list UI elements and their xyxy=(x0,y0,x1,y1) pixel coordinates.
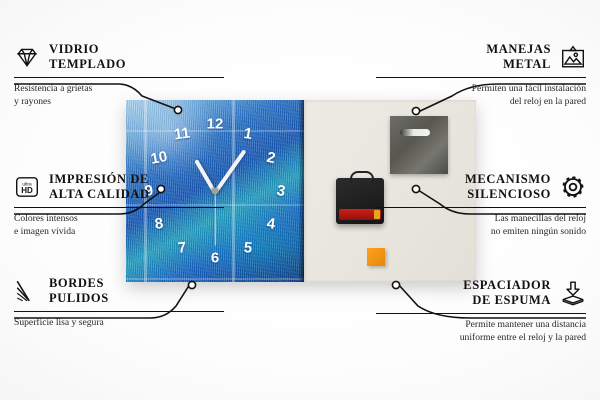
feature-rule xyxy=(376,313,586,315)
feature-subtitle-line1: Superficie lisa y segura xyxy=(14,317,224,330)
feature-title-line2: METAL xyxy=(486,57,551,72)
feature-title-line2: DE ESPUMA xyxy=(463,293,551,308)
feature-title-line2: TEMPLADO xyxy=(49,57,126,72)
foam-spacer xyxy=(367,248,385,266)
feature-subtitle-line1: Permite mantener una distancia xyxy=(376,319,586,332)
feature-subtitle-line2: uniforme entre el reloj y la pared xyxy=(376,332,586,345)
clock-numeral-1: 1 xyxy=(243,126,253,142)
feature-subtitle-line1: Las manecillas del reloj xyxy=(376,213,586,226)
clock-numeral-4: 4 xyxy=(266,216,276,232)
feature-title-line2: SILENCIOSO xyxy=(465,187,551,202)
clock-numeral-6: 6 xyxy=(211,251,219,266)
picture-hanger-icon xyxy=(560,44,586,70)
clock-numeral-5: 5 xyxy=(243,240,253,256)
ultra-hd-badge-icon: ultra HD xyxy=(14,174,40,200)
battery xyxy=(339,209,381,220)
feature-impresion-alta-calidad[interactable]: ultra HD IMPRESIÓN DE ALTA CALIDAD Color… xyxy=(14,172,224,239)
feature-subtitle-line2: e imagen vívida xyxy=(14,226,224,239)
infographic-canvas: 12 1 2 3 4 5 6 7 8 9 10 11 xyxy=(0,0,600,400)
feature-title-line1: IMPRESIÓN DE xyxy=(49,172,150,187)
feature-title-line2: ALTA CALIDAD xyxy=(49,187,150,202)
feature-rule xyxy=(14,207,224,209)
clock-numeral-3: 3 xyxy=(275,183,286,199)
feature-rule xyxy=(376,77,586,79)
svg-text:HD: HD xyxy=(21,186,33,195)
feature-subtitle-line1: Resistencia a grietas xyxy=(14,83,224,96)
diagonal-lines-icon xyxy=(14,278,40,304)
feature-espaciador-espuma[interactable]: ESPACIADOR DE ESPUMA Permite mantener un… xyxy=(376,278,586,345)
feature-title-line1: VIDRIO xyxy=(49,42,126,57)
clock-numeral-10: 10 xyxy=(149,149,168,167)
clock-numeral-11: 11 xyxy=(173,125,191,142)
clock-numeral-7: 7 xyxy=(177,240,187,256)
feature-subtitle-line2: del reloj en la pared xyxy=(376,96,586,109)
feature-subtitle-line1: Permiten una fácil instalación xyxy=(376,83,586,96)
feature-title-line1: ESPACIADOR xyxy=(463,278,551,293)
gear-icon xyxy=(560,174,586,200)
feature-mecanismo-silencioso[interactable]: MECANISMO SILENCIOSO Las manecillas del … xyxy=(376,172,586,239)
feature-rule xyxy=(14,311,224,313)
feature-title-line1: MECANISMO xyxy=(465,172,551,187)
clock-numeral-12: 12 xyxy=(207,116,224,131)
feature-manejas-metal[interactable]: MANEJAS METAL Permiten una fácil instala… xyxy=(376,42,586,109)
diamond-icon xyxy=(14,44,40,70)
feature-subtitle-line2: no emiten ningún sonido xyxy=(376,226,586,239)
feature-bordes-pulidos[interactable]: BORDES PULIDOS Superficie lisa y segura xyxy=(14,276,224,330)
clock-numeral-2: 2 xyxy=(265,150,276,166)
feature-title-line1: BORDES xyxy=(49,276,109,291)
feature-vidrio-templado[interactable]: VIDRIO TEMPLADO Resistencia a grietas y … xyxy=(14,42,224,109)
mechanism-hook xyxy=(350,171,374,183)
feature-title-line1: MANEJAS xyxy=(486,42,551,57)
feature-rule xyxy=(376,207,586,209)
arrow-on-pad-icon xyxy=(560,280,586,306)
feature-subtitle-line1: Colores intensos xyxy=(14,213,224,226)
feature-title-line2: PULIDOS xyxy=(49,291,109,306)
feature-subtitle-line2: y rayones xyxy=(14,96,224,109)
hanger-slot xyxy=(400,129,430,136)
metal-hanger-plate xyxy=(390,116,448,174)
feature-rule xyxy=(14,77,224,79)
